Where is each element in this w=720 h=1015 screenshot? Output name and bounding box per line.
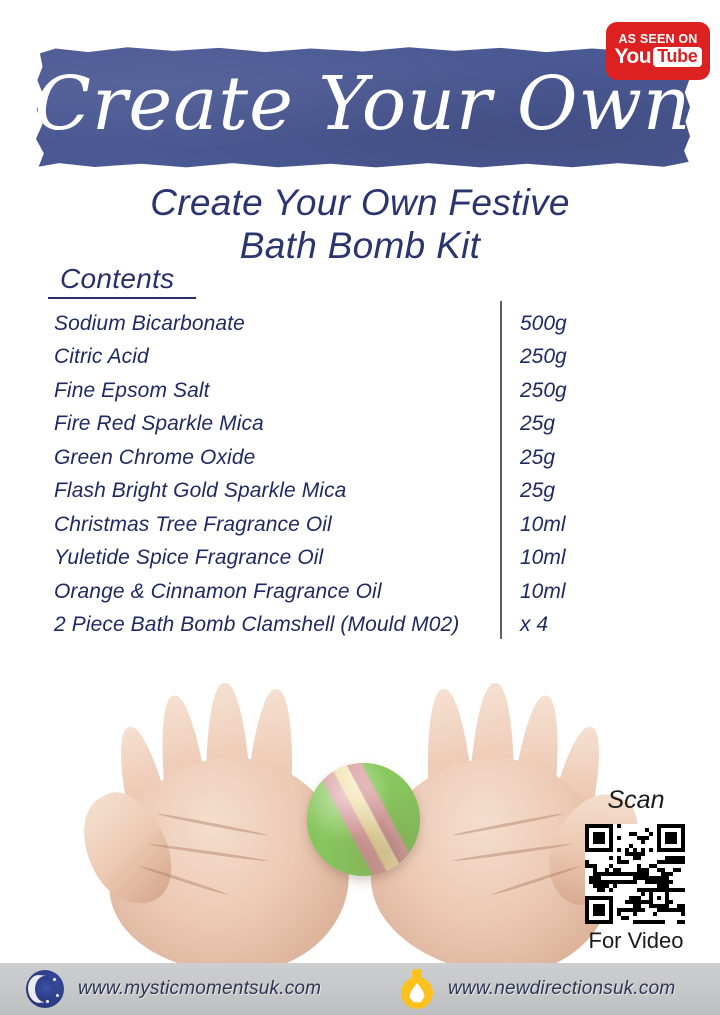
brand-new-directions[interactable]: www.newdirectionsuk.com: [400, 969, 675, 1009]
drop-logo-icon: [400, 969, 434, 1009]
product-label-page: Create Your Own AS SEEN ON You Tube Crea…: [0, 0, 720, 1015]
brand-mystic-moments[interactable]: www.mysticmomentsuk.com: [26, 970, 321, 1008]
banner-title: Create Your Own: [36, 46, 690, 168]
contents-item-name: Green Chrome Oxide: [54, 446, 255, 470]
moon-logo-icon: [26, 970, 64, 1008]
contents-item-qty: 500g: [520, 312, 567, 336]
subtitle-line-1: Create Your Own Festive: [0, 182, 720, 225]
contents-item-qty: 10ml: [520, 513, 566, 537]
contents-item-qty: 250g: [520, 345, 567, 369]
contents-row: Green Chrome Oxide25g: [54, 441, 654, 475]
contents-item-qty: 25g: [520, 446, 555, 470]
contents-heading: Contents: [60, 263, 174, 295]
contents-item-name: Citric Acid: [54, 345, 149, 369]
youtube-tube-text: Tube: [653, 47, 701, 67]
bath-bomb-texture: [307, 763, 420, 876]
header-banner: Create Your Own: [36, 46, 690, 168]
contents-item-qty: x 4: [520, 613, 548, 637]
subtitle-line-2: Bath Bomb Kit: [0, 225, 720, 268]
contents-list: Sodium Bicarbonate500gCitric Acid250gFin…: [54, 307, 654, 642]
contents-item-name: Yuletide Spice Fragrance Oil: [54, 546, 323, 570]
youtube-logo-icon: You Tube: [614, 46, 701, 67]
youtube-you-text: You: [614, 46, 651, 67]
footer-bar: www.mysticmomentsuk.com www.newdirection…: [0, 963, 720, 1015]
contents-row: Orange & Cinnamon Fragrance Oil10ml: [54, 575, 654, 609]
contents-item-name: Christmas Tree Fragrance Oil: [54, 513, 332, 537]
contents-item-qty: 250g: [520, 379, 567, 403]
qr-code[interactable]: [585, 824, 685, 924]
contents-item-qty: 25g: [520, 412, 555, 436]
contents-item-name: Sodium Bicarbonate: [54, 312, 245, 336]
contents-item-name: Fire Red Sparkle Mica: [54, 412, 264, 436]
contents-row: Flash Bright Gold Sparkle Mica25g: [54, 475, 654, 509]
contents-item-name: 2 Piece Bath Bomb Clamshell (Mould M02): [54, 613, 459, 637]
contents-row: Sodium Bicarbonate500g: [54, 307, 654, 341]
contents-row: 2 Piece Bath Bomb Clamshell (Mould M02)x…: [54, 609, 654, 643]
bath-bomb: [307, 763, 420, 876]
contents-row: Yuletide Spice Fragrance Oil10ml: [54, 542, 654, 576]
contents-row: Citric Acid250g: [54, 341, 654, 375]
scan-label: Scan: [566, 786, 706, 815]
contents-row: Fire Red Sparkle Mica25g: [54, 408, 654, 442]
contents-item-name: Fine Epsom Salt: [54, 379, 210, 403]
as-seen-on-youtube-badge[interactable]: AS SEEN ON You Tube: [606, 22, 710, 80]
contents-row: Christmas Tree Fragrance Oil10ml: [54, 508, 654, 542]
mystic-moments-url[interactable]: www.mysticmomentsuk.com: [78, 978, 321, 1000]
contents-item-qty: 25g: [520, 479, 555, 503]
as-seen-on-label: AS SEEN ON: [618, 33, 697, 46]
for-video-label: For Video: [566, 928, 706, 954]
contents-item-qty: 10ml: [520, 546, 566, 570]
contents-row: Fine Epsom Salt250g: [54, 374, 654, 408]
contents-item-name: Flash Bright Gold Sparkle Mica: [54, 479, 346, 503]
contents-item-qty: 10ml: [520, 580, 566, 604]
contents-item-name: Orange & Cinnamon Fragrance Oil: [54, 580, 382, 604]
contents-heading-underline: [48, 297, 196, 299]
product-subtitle: Create Your Own Festive Bath Bomb Kit: [0, 182, 720, 268]
new-directions-url[interactable]: www.newdirectionsuk.com: [448, 978, 675, 1000]
